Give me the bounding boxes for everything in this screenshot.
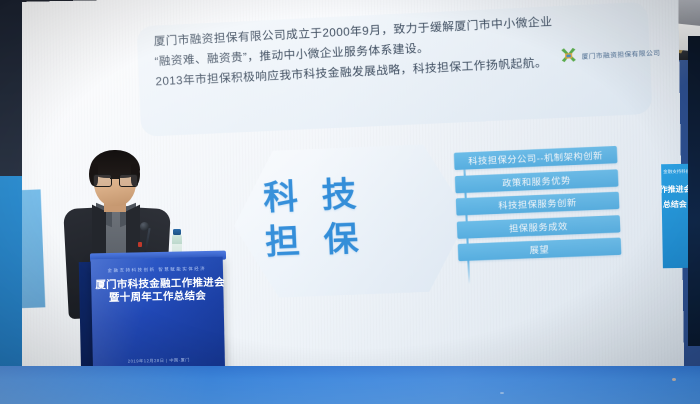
eyeglasses-icon	[93, 174, 138, 185]
right-edge-shadow	[688, 36, 700, 346]
left-blue-strip	[0, 176, 22, 376]
bottle-cap	[173, 229, 181, 235]
lens-left	[93, 174, 112, 187]
banner-tagline: 金融支持科技	[663, 169, 690, 175]
banner-title-line-2: 总结会	[663, 199, 687, 210]
conference-stage-photo: 厦门市融资担保有限公司成立于2000年9月，致力于缓解厦门市中小微企业 “融资难…	[0, 0, 700, 404]
microphone-icon	[140, 222, 149, 231]
floor-reflection	[0, 366, 700, 404]
lapel-pin	[138, 242, 142, 247]
left-dark-strip	[0, 0, 22, 176]
glasses-bridge	[110, 178, 119, 179]
floor-speck	[672, 378, 676, 381]
lens-right	[119, 174, 138, 187]
floor-speck	[500, 392, 504, 394]
podium-title-line-2: 暨十周年工作总结会	[95, 288, 219, 306]
podium: 金融支持科技创新 智慧赋能实体经济 厦门市科技金融工作推进会 暨十周年工作总结会…	[91, 257, 226, 384]
